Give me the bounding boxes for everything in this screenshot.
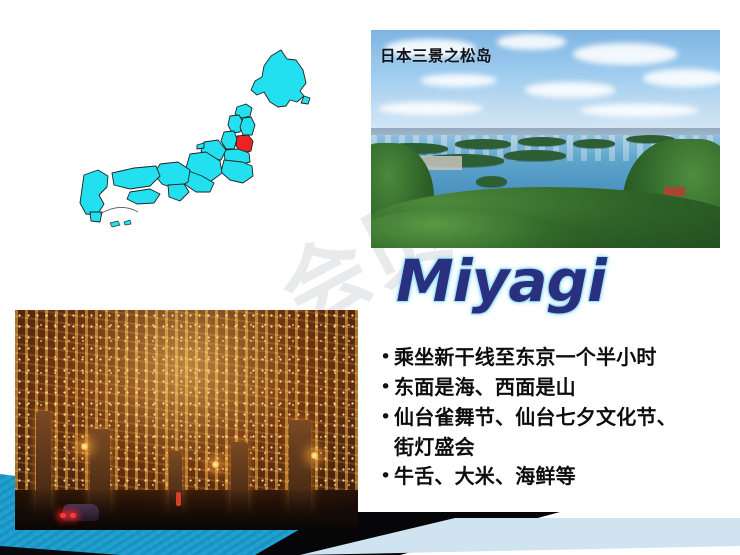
list-item-label: 牛舌、大米、海鲜等 [394,462,730,491]
photo-street-lamp [211,460,220,469]
photo-islet [476,176,507,187]
map-region-iwate [240,117,255,135]
map-region-okinawa-islands [110,221,120,227]
map-region-kii [168,184,189,201]
map-region-chugoku [112,166,160,189]
list-item: • 乘坐新干线至东京一个半小时 [378,343,730,372]
map-region-okinawa-islet [124,220,131,225]
bullet-point-icon: • [378,403,394,432]
list-item-label: 仙台雀舞节、仙台七夕文化节、 [394,403,730,432]
japan-map [38,42,338,247]
map-region-okinawa-arc [100,207,138,214]
cloud-shape [573,43,678,65]
map-region-hokkaido [251,50,306,107]
photo-islet [455,139,511,149]
list-item-label: 乘坐新干线至东京一个半小时 [394,343,730,372]
matsushima-bay-photo: 日本三景之松岛 [371,30,720,248]
map-region-kyushu [80,170,108,215]
photo-street-lamp [310,451,319,460]
map-region-shikoku [127,189,160,204]
cloud-shape [378,102,483,115]
map-region-sado [197,143,204,149]
sendai-pageant-of-starlight-photo [15,310,358,530]
photo-pedestrian [176,492,181,506]
bullet-point-icon: • [378,462,394,491]
cloud-shape [497,34,567,49]
list-item: • 仙台雀舞节、仙台七夕文化节、 [378,403,730,432]
map-region-kanto [221,160,253,183]
list-item: • 东面是海、西面是山 [378,373,730,402]
photo-islet [518,137,567,146]
list-item-label: 东面是海、西面是山 [394,373,730,402]
japan-map-svg [38,42,338,247]
slide-canvas: 会员 专享 [0,0,740,555]
list-item-label-continuation: 街灯盛会 [378,433,730,462]
cloud-shape [525,82,616,97]
cloud-shape [420,74,497,87]
photo-islet [504,150,567,161]
bullet-list: • 乘坐新干线至东京一个半小时 • 东面是海、西面是山 • 仙台雀舞节、仙台七夕… [378,343,730,492]
page-title: Miyagi [396,252,606,310]
cloud-shape [643,69,720,86]
matsushima-caption: 日本三景之松岛 [380,44,492,66]
list-item: • 牛舌、大米、海鲜等 [378,462,730,491]
bullet-point-icon: • [378,343,394,372]
bullet-point-icon: • [378,373,394,402]
photo-islet [573,139,615,148]
photo-car [63,504,99,521]
